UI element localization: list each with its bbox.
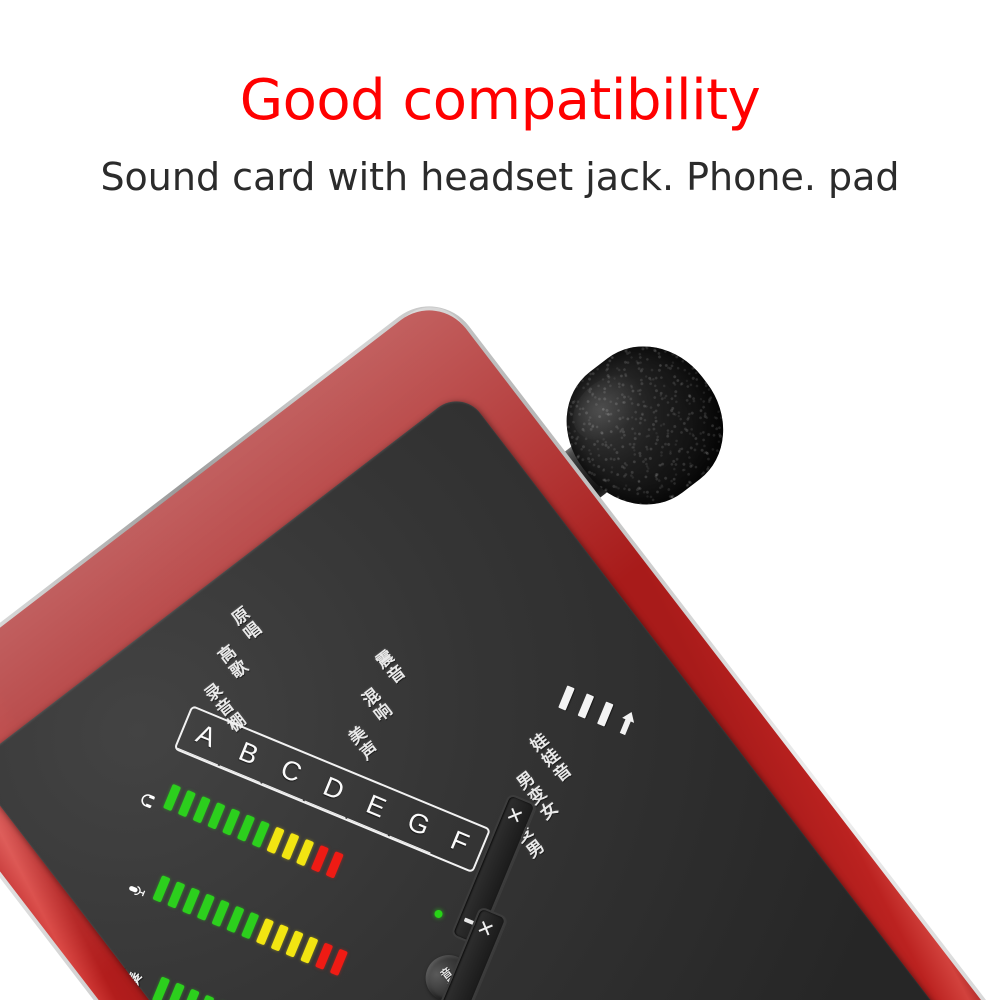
product-banner: Good compatibility Sound card with heads…: [0, 0, 1000, 1000]
meter-microphone: [152, 875, 348, 976]
level-dash-group: [558, 685, 637, 736]
plus-icon[interactable]: ✕: [475, 917, 500, 940]
dash-indicator: [558, 685, 575, 710]
preset-letter-strip[interactable]: A B C D E G F: [173, 705, 491, 873]
live-sound-card[interactable]: 原唱 高歌 录音棚 震音 混响 美声 娃娃音 男变女 女变男 A B C: [0, 292, 1000, 1000]
page-title: Good compatibility: [0, 72, 1000, 131]
dash-indicator: [597, 701, 614, 726]
meter-accompaniment: [152, 976, 348, 1000]
device-faceplate: 原唱 高歌 录音棚 震音 混响 美声 娃娃音 男变女 女变男 A B C: [0, 389, 1000, 1000]
microphone-icon: [124, 878, 152, 904]
green-led-indicator: [433, 908, 444, 919]
dash-indicator: [578, 693, 595, 718]
plus-icon[interactable]: ✕: [504, 804, 529, 827]
page-subtitle: Sound card with headset jack. Phone. pad: [0, 155, 1000, 199]
plug-icon: [616, 709, 637, 736]
headphone-icon: [136, 788, 164, 814]
